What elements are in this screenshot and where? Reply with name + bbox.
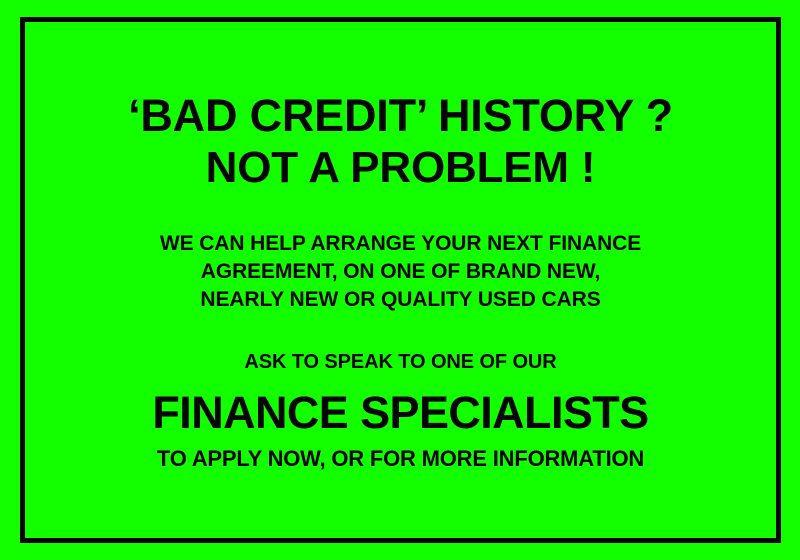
body-copy-line-2: AGREEMENT, ON ONE OF BRAND NEW, bbox=[30, 258, 771, 286]
call-to-action-headline: FINANCE SPECIALISTS bbox=[30, 388, 771, 438]
headline-line-2: NOT A PROBLEM ! bbox=[30, 142, 771, 194]
advertisement-poster: ‘BAD CREDIT’ HISTORY ? NOT A PROBLEM ! W… bbox=[0, 0, 800, 560]
call-to-action-lead: ASK TO SPEAK TO ONE OF OUR bbox=[30, 348, 771, 376]
headline-block: ‘BAD CREDIT’ HISTORY ? NOT A PROBLEM ! bbox=[30, 90, 771, 194]
call-to-action-block: ASK TO SPEAK TO ONE OF OUR FINANCE SPECI… bbox=[30, 348, 771, 474]
headline-line-1: ‘BAD CREDIT’ HISTORY ? bbox=[30, 90, 771, 142]
body-copy-line-1: WE CAN HELP ARRANGE YOUR NEXT FINANCE bbox=[30, 230, 771, 258]
poster-content: ‘BAD CREDIT’ HISTORY ? NOT A PROBLEM ! W… bbox=[30, 27, 771, 533]
body-copy-line-3: NEARLY NEW OR QUALITY USED CARS bbox=[30, 286, 771, 314]
body-copy-block: WE CAN HELP ARRANGE YOUR NEXT FINANCE AG… bbox=[30, 230, 771, 314]
call-to-action-footer: TO APPLY NOW, OR FOR MORE INFORMATION bbox=[30, 444, 771, 474]
